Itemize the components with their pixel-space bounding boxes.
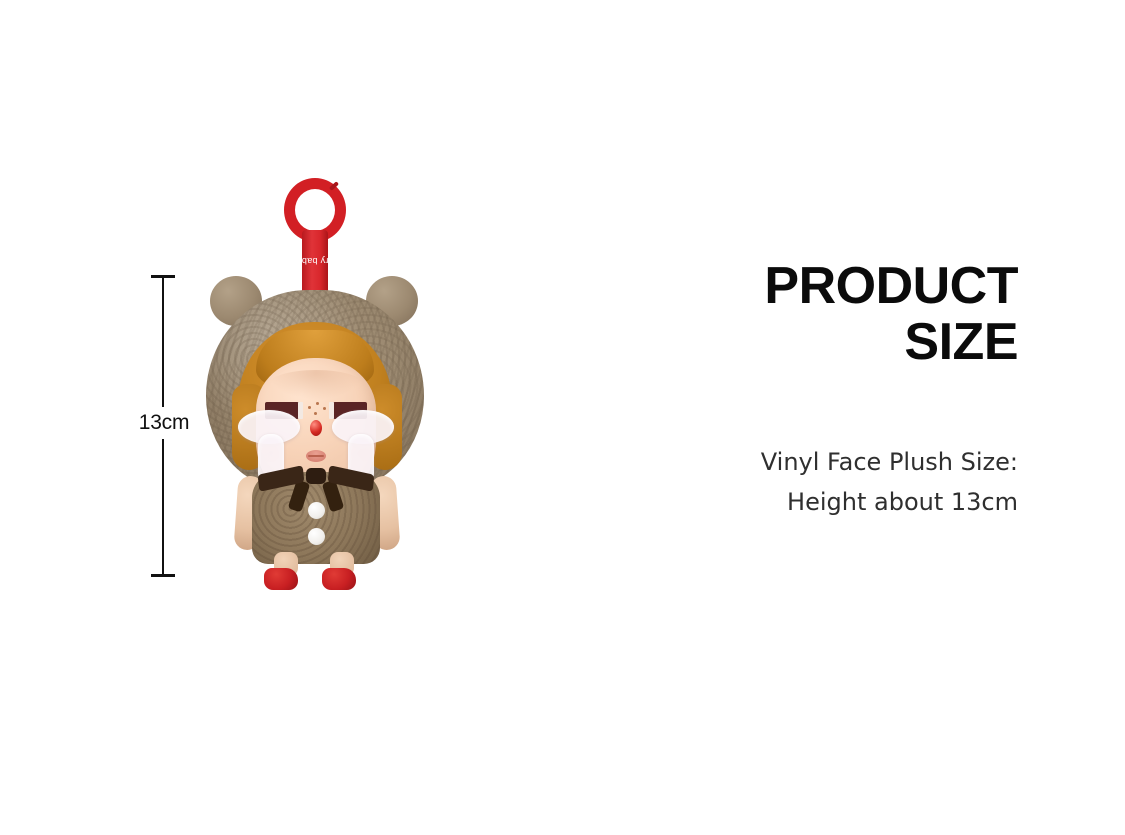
body-button-top <box>308 502 325 519</box>
measurement-label: 13cm <box>128 407 200 439</box>
bow-knot <box>306 468 326 484</box>
height-measurement-ruler: 13cm <box>130 268 200 584</box>
strap-brand-label: cry baby <box>292 256 338 266</box>
eye-highlight-left <box>298 402 303 419</box>
product-figure: cry baby <box>196 172 436 584</box>
shoe-right <box>322 568 356 590</box>
eye-highlight-right <box>329 402 334 419</box>
headline-line-2: SIZE <box>640 314 1018 370</box>
mouth <box>306 450 326 462</box>
freckles <box>306 402 328 416</box>
body-button-bottom <box>308 528 325 545</box>
headline-line-1: PRODUCT <box>640 258 1018 314</box>
text-block: PRODUCT SIZE Vinyl Face Plush Size: Heig… <box>640 258 1018 522</box>
detail-line-2: Height about 13cm <box>640 482 1018 522</box>
measurement-bottom-tick <box>151 574 175 577</box>
keychain-strap: cry baby <box>302 230 328 298</box>
detail-text: Vinyl Face Plush Size: Height about 13cm <box>640 442 1018 522</box>
shoe-left <box>264 568 298 590</box>
product-size-infographic: 13cm cry baby <box>0 0 1125 835</box>
brow-shading <box>268 370 364 400</box>
detail-line-1: Vinyl Face Plush Size: <box>640 442 1018 482</box>
bow-tie <box>258 468 374 494</box>
nose <box>310 420 322 436</box>
